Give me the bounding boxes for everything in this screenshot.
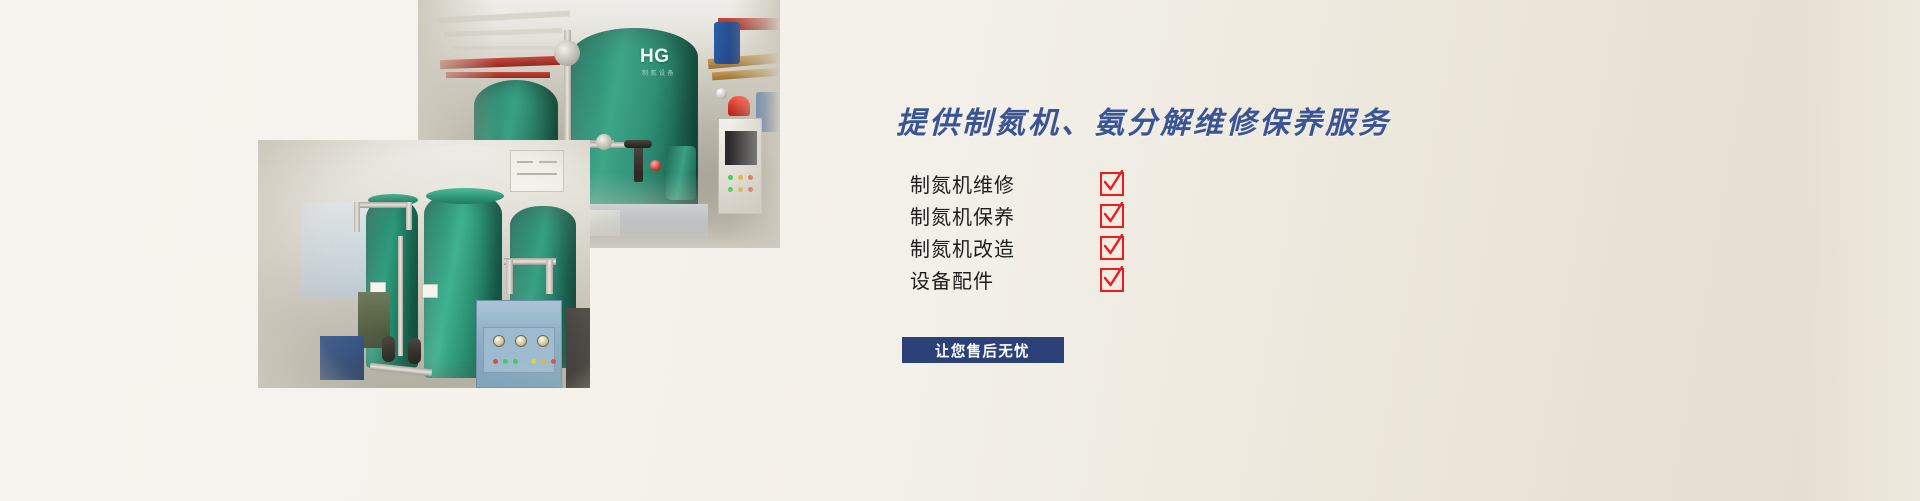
list-item: 制氮机维修 — [910, 168, 1210, 199]
service-list: 制氮机维修 制氮机保养 制氮机改造 — [910, 168, 1210, 296]
promo-badge-label: 让您售后无忧 — [935, 340, 1030, 361]
valve-handle — [624, 140, 652, 148]
valve-stem — [634, 146, 643, 182]
pipe-flange — [596, 134, 612, 150]
promo-banner: HG 制氮设备 — [0, 0, 1920, 501]
vertical-pipe — [398, 236, 403, 356]
gauge-knob — [493, 335, 505, 347]
red-shelf-rack — [446, 72, 550, 78]
photo-psa-nitrogen-skid — [258, 140, 590, 388]
green-valve-cover — [666, 146, 696, 200]
pipe-valve — [382, 336, 395, 362]
tank-label — [422, 284, 438, 298]
panel-screen — [725, 131, 757, 165]
gauge-knob — [515, 335, 527, 347]
warning-beacon — [728, 96, 750, 116]
blue-drum — [714, 22, 740, 64]
service-label: 制氮机改造 — [910, 233, 1100, 262]
pipe-flange — [554, 40, 580, 66]
control-panel — [718, 118, 762, 214]
vertical-pipe — [354, 202, 360, 232]
vertical-pipe — [506, 260, 513, 294]
list-item: 设备配件 — [910, 264, 1210, 295]
service-label: 设备配件 — [910, 265, 1100, 294]
list-item: 制氮机改造 — [910, 232, 1210, 263]
service-label: 制氮机维修 — [910, 169, 1100, 198]
tank-dome-lid — [426, 188, 504, 204]
photo-collage: HG 制氮设备 — [0, 0, 820, 501]
blue-control-cabinet — [476, 300, 562, 388]
list-item: 制氮机保养 — [910, 200, 1210, 231]
pressure-gauge — [650, 160, 661, 171]
checkbox-checked-icon — [1100, 236, 1124, 260]
page-title: 提供制氮机、氨分解维修保养服务 — [896, 98, 1391, 142]
base-label-plate — [586, 210, 620, 236]
vertical-pipe — [546, 260, 553, 294]
dark-equipment-base — [566, 308, 590, 388]
checkbox-checked-icon — [1100, 204, 1124, 228]
vertical-pipe — [406, 202, 412, 230]
checkbox-checked-icon — [1100, 172, 1124, 196]
service-label: 制氮机保养 — [910, 201, 1100, 230]
banner-content: 提供制氮机、氨分解维修保养服务 制氮机维修 制氮机保养 — [888, 0, 1408, 501]
equipment-tag-plate — [510, 150, 564, 192]
tank-logo: HG — [640, 46, 670, 68]
blue-base-block — [320, 336, 364, 380]
checkbox-checked-icon — [1100, 268, 1124, 292]
ceiling-beam — [452, 46, 556, 50]
horizontal-pipe — [354, 202, 412, 208]
pressure-gauge — [716, 88, 727, 99]
promo-badge[interactable]: 让您售后无忧 — [902, 337, 1064, 363]
gauge-knob — [537, 335, 549, 347]
pipe-valve — [408, 338, 421, 364]
tank-logo-subtitle: 制氮设备 — [642, 68, 676, 77]
cabinet-face — [483, 327, 555, 373]
